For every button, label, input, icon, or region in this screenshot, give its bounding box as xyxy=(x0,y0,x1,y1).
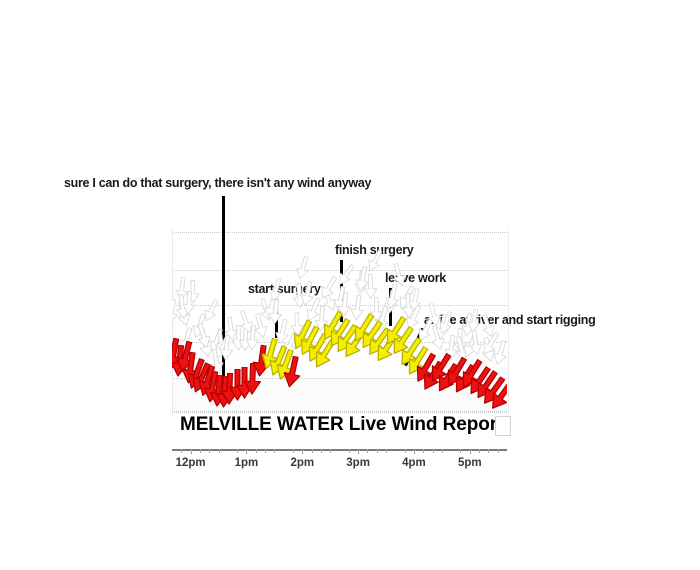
x-axis-tick-minor xyxy=(219,449,220,453)
gridline xyxy=(172,412,507,413)
x-axis-tick-label: 12pm xyxy=(176,457,206,469)
x-axis-line xyxy=(172,449,507,451)
x-axis-tick-minor xyxy=(377,449,378,453)
title-scroll-box xyxy=(495,416,511,436)
x-axis-tick-minor xyxy=(470,449,471,453)
x-axis-tick-minor xyxy=(191,449,192,453)
x-axis-tick-minor xyxy=(498,449,499,453)
x-axis-tick-minor xyxy=(293,449,294,453)
x-axis-tick-minor xyxy=(246,449,247,453)
x-axis-tick-minor xyxy=(349,449,350,453)
x-axis-tick-minor xyxy=(488,449,489,453)
x-axis-tick-minor xyxy=(423,449,424,453)
x-axis-tick-minor xyxy=(209,449,210,453)
x-axis-tick-label: 2pm xyxy=(290,457,314,469)
ghost-wind-arrow xyxy=(293,254,313,281)
x-axis-tick-minor xyxy=(433,449,434,453)
x-axis-tick-minor xyxy=(414,449,415,453)
x-axis-tick-minor xyxy=(265,449,266,453)
ghost-wind-arrow xyxy=(181,290,197,315)
x-axis-tick-minor xyxy=(181,449,182,453)
x-axis-tick-minor xyxy=(460,449,461,453)
wind-report-figure: MELVILLE WATER Live Wind Report 12pm1pm2… xyxy=(0,0,700,570)
x-axis-tick-label: 4pm xyxy=(402,457,426,469)
x-axis-tick-label: 5pm xyxy=(458,457,482,469)
x-axis-tick-minor xyxy=(358,449,359,453)
title-divider xyxy=(172,411,507,412)
x-axis-tick-minor xyxy=(442,449,443,453)
x-axis-tick-minor xyxy=(237,449,238,453)
x-axis-tick-minor xyxy=(321,449,322,453)
x-axis-tick-label: 1pm xyxy=(235,457,259,469)
x-axis-tick-minor xyxy=(200,449,201,453)
x-axis-tick-minor xyxy=(274,449,275,453)
x-axis-tick-minor xyxy=(330,449,331,453)
x-axis-tick-minor xyxy=(302,449,303,453)
x-axis-tick-label: 3pm xyxy=(346,457,370,469)
x-axis-tick-minor xyxy=(405,449,406,453)
x-axis-tick-minor xyxy=(479,449,480,453)
annotation-surgery-comment: sure I can do that surgery, there isn't … xyxy=(64,176,371,190)
x-axis-tick-minor xyxy=(386,449,387,453)
x-axis-tick-minor xyxy=(312,449,313,453)
x-axis-tick-minor xyxy=(256,449,257,453)
x-axis-tick-minor xyxy=(367,449,368,453)
chart-title: MELVILLE WATER Live Wind Report xyxy=(180,414,503,436)
